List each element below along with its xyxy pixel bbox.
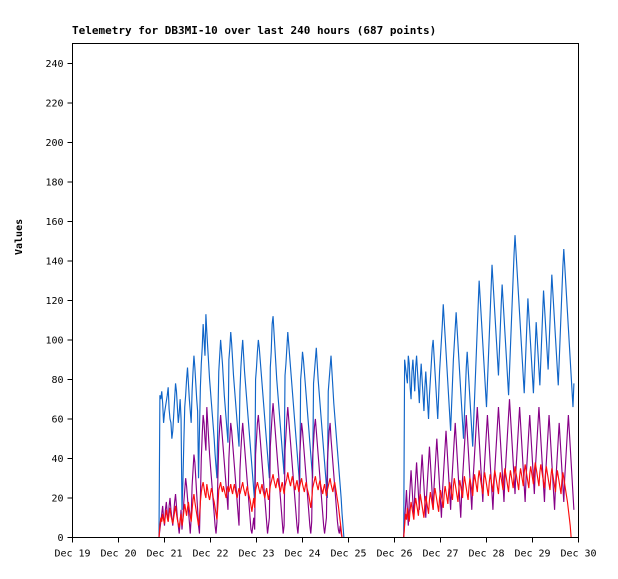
y-tick-label: 60	[51, 414, 63, 425]
series-line-red_segment2	[404, 462, 571, 537]
y-tick-label: 160	[45, 217, 63, 228]
y-tick-label: 240	[45, 59, 63, 70]
plot-area: 020406080100120140160180200220240 Dec 19…	[0, 0, 618, 579]
y-tick-label: 220	[45, 98, 63, 109]
y-tick-label: 20	[51, 493, 63, 504]
x-tick-label: Dec 30	[560, 549, 596, 560]
y-tick-group: 020406080100120140160180200220240	[45, 59, 72, 544]
series-group	[159, 235, 574, 537]
x-tick-label: Dec 22	[192, 549, 228, 560]
x-tick-label: Dec 27	[422, 549, 458, 560]
y-tick-label: 200	[45, 138, 63, 149]
x-tick-label: Dec 20	[100, 549, 136, 560]
y-tick-label: 100	[45, 335, 63, 346]
x-tick-label: Dec 26	[376, 549, 412, 560]
y-tick-label: 40	[51, 454, 63, 465]
y-tick-label: 180	[45, 177, 63, 188]
x-tick-label: Dec 29	[514, 549, 550, 560]
y-tick-label: 80	[51, 375, 63, 386]
x-tick-group: Dec 19Dec 20Dec 21Dec 22Dec 23Dec 24Dec …	[54, 538, 596, 560]
y-tick-label: 120	[45, 296, 63, 307]
y-tick-label: 0	[57, 533, 63, 544]
x-tick-label: Dec 23	[238, 549, 274, 560]
x-tick-label: Dec 25	[330, 549, 366, 560]
series-line-purple_segment2	[404, 399, 574, 537]
telemetry-chart: Telemetry for DB3MI-10 over last 240 hou…	[0, 0, 618, 579]
y-tick-label: 140	[45, 256, 63, 267]
x-tick-label: Dec 19	[54, 549, 90, 560]
series-line-purple	[159, 403, 342, 537]
x-tick-label: Dec 21	[146, 549, 182, 560]
x-tick-label: Dec 28	[468, 549, 504, 560]
x-tick-label: Dec 24	[284, 549, 320, 560]
